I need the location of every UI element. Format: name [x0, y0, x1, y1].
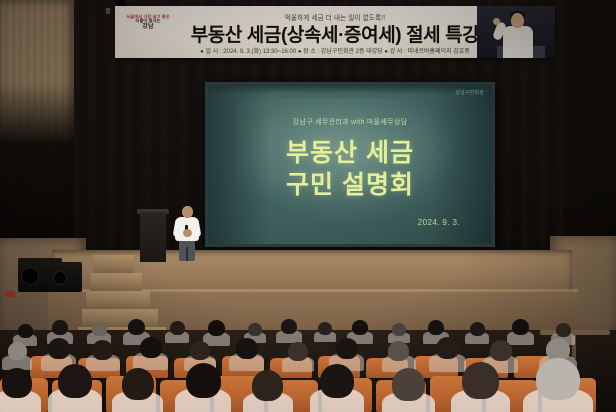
- audience-member-head: [2, 368, 32, 398]
- audience-member-head: [58, 364, 92, 398]
- projection-screen-frame: 강남구민회관 강남구 세무관리과 with 마을세무상담 부동산 세금 구민 설…: [205, 82, 495, 247]
- audience-member-head: [8, 342, 27, 360]
- podium: [140, 212, 166, 262]
- audience-area: [0, 318, 616, 412]
- lecture-hall-photo: 서울에서 가장 살기 좋은 더불어 잘사는 강남 억울하게 세금 더 내는 일이…: [0, 0, 616, 412]
- portrait-hand: [493, 18, 500, 25]
- presenter-hands: [183, 229, 192, 237]
- audience-member-head: [236, 338, 258, 359]
- stage-step: [86, 291, 150, 310]
- screen-title-line-2: 구민 설명회: [208, 169, 492, 201]
- audience-member-head: [436, 337, 459, 359]
- audience-member-head: [18, 324, 33, 338]
- left-wall-shadow: [0, 82, 74, 238]
- audience-member-head: [52, 320, 68, 335]
- audience-member-head: [392, 368, 425, 401]
- audience-member-head: [252, 370, 283, 401]
- audience-member-head: [140, 337, 162, 358]
- ceiling-light-dot: [106, 8, 110, 14]
- audience-member-head: [388, 341, 409, 361]
- speaker-cone-icon-2: [54, 272, 66, 284]
- projection-screen: 강남구민회관 강남구 세무관리과 with 마을세무상담 부동산 세금 구민 설…: [208, 85, 492, 244]
- event-banner: 서울에서 가장 살기 좋은 더불어 잘사는 강남 억울하게 세금 더 내는 일이…: [115, 6, 555, 58]
- screen-date: 2024. 9. 3.: [418, 218, 460, 227]
- audience-member-head: [490, 340, 512, 361]
- screen-main-title: 부동산 세금 구민 설명회: [208, 137, 492, 201]
- audience-member-head: [288, 342, 308, 361]
- speaker-cone-icon: [22, 268, 38, 284]
- audience-member-head: [462, 362, 499, 399]
- screen-subheading: 강남구 세무관리과 with 마을세무상담: [208, 117, 492, 127]
- portrait-body: [503, 26, 533, 58]
- audience-member-head: [170, 321, 185, 335]
- screen-top-bar: [208, 85, 492, 94]
- audience-member-head: [92, 340, 113, 360]
- audience-member-head: [512, 319, 529, 335]
- lecturer-portrait-icon: [477, 6, 555, 58]
- audience-member-head: [190, 341, 210, 360]
- audience-member-head: [428, 320, 444, 335]
- audience-member-head: [128, 319, 145, 335]
- audience-member-head: [536, 358, 580, 400]
- audience-member-head: [208, 320, 225, 336]
- audience-member-head: [122, 368, 154, 400]
- screen-badge: 강남구민회관: [455, 89, 484, 96]
- exit-sign: [6, 291, 15, 297]
- stage-step: [94, 255, 134, 274]
- audience-member-head: [48, 338, 70, 359]
- audience-member-head: [281, 319, 297, 334]
- right-dark-wall: [564, 0, 616, 240]
- presenter-head: [182, 206, 193, 218]
- presenter: [172, 203, 202, 261]
- screen-title-line-1: 부동산 세금: [208, 137, 492, 169]
- audience-member-head: [186, 363, 221, 398]
- audience-member-head: [92, 322, 107, 336]
- stage-step: [90, 273, 142, 292]
- audience-member-head: [352, 320, 368, 335]
- audience-member-head: [336, 338, 358, 359]
- presenter-leg-gap: [186, 247, 188, 261]
- audience-member-head: [248, 323, 262, 336]
- audience-member-head: [320, 364, 354, 398]
- portrait-head: [511, 13, 524, 28]
- audience-member-head: [556, 323, 571, 337]
- audience-member-head: [318, 322, 332, 335]
- audience-member-head: [392, 323, 406, 336]
- audience-member-head: [470, 322, 485, 336]
